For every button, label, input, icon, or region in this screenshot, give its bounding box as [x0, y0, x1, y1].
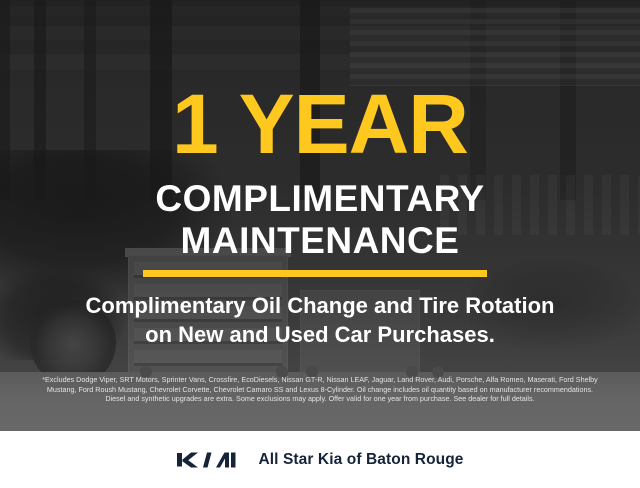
offer-description-line2: on New and Used Car Purchases.: [0, 322, 640, 348]
disclaimer-text: *Excludes Dodge Viper, SRT Motors, Sprin…: [12, 375, 628, 404]
disclaimer-line-2: Mustang, Ford Roush Mustang, Chevrolet C…: [12, 385, 628, 395]
yellow-divider-bar: [143, 270, 487, 277]
headline-complimentary: COMPLIMENTARY: [0, 180, 640, 217]
disclaimer-line-3: Diesel and synthetic upgrades are extra.…: [12, 394, 628, 404]
dealer-name: All Star Kia of Baton Rouge: [258, 451, 463, 469]
headline-maintenance: MAINTENANCE: [0, 222, 640, 259]
kia-logo: [176, 450, 240, 470]
headline-year: 1 YEAR: [0, 82, 640, 166]
disclaimer-line-1: *Excludes Dodge Viper, SRT Motors, Sprin…: [12, 375, 628, 385]
promotional-banner: 1 YEAR COMPLIMENTARY MAINTENANCE Complim…: [0, 0, 640, 488]
offer-description-line1: Complimentary Oil Change and Tire Rotati…: [0, 293, 640, 319]
footer-bar: All Star Kia of Baton Rouge: [0, 431, 640, 488]
banner-content: 1 YEAR COMPLIMENTARY MAINTENANCE Complim…: [0, 0, 640, 431]
